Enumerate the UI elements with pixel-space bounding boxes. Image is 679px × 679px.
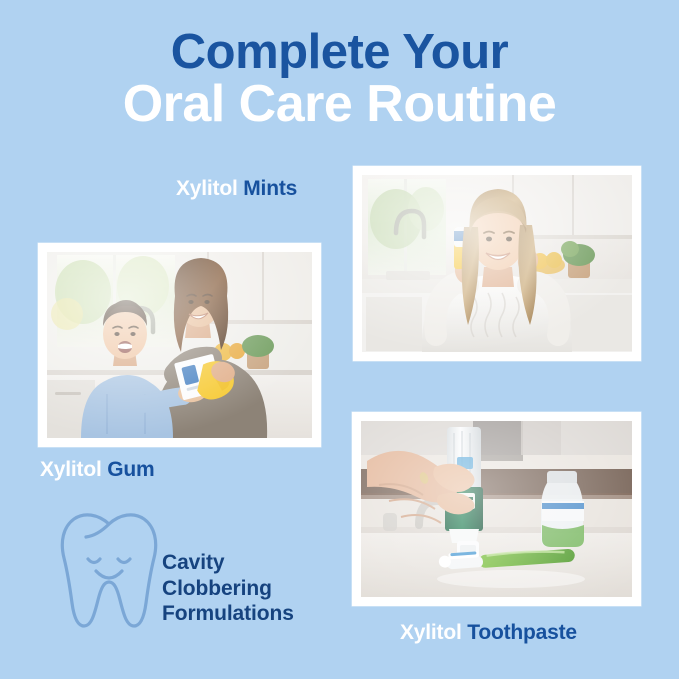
xylitol-toothpaste-lifestyle-photo (361, 421, 632, 597)
smiling-tooth-icon (58, 508, 160, 630)
caption-gum-word1: Xylitol (40, 458, 102, 481)
xylitol-toothpaste-photo-frame (352, 412, 641, 606)
caption-toothpaste-word2: Toothpaste (467, 621, 577, 644)
headline-line-1: Complete Your (0, 28, 679, 76)
toothpaste-photo-artwork (361, 421, 632, 597)
mints-photo-artwork (362, 175, 632, 352)
cavity-clobbering-badge: Cavity Clobbering Formulations (58, 508, 338, 633)
gum-photo-artwork (47, 252, 312, 438)
caption-toothpaste-word1: Xylitol (400, 621, 462, 644)
xylitol-gum-photo-frame (38, 243, 321, 447)
page-title: Complete Your Oral Care Routine (0, 28, 679, 130)
xylitol-mints-photo-frame (353, 166, 641, 361)
caption-mints-word2: Mints (243, 177, 297, 200)
poster-canvas: Complete Your Oral Care Routine (0, 0, 679, 679)
headline-line-2: Oral Care Routine (0, 79, 679, 130)
badge-line-2: Clobbering (162, 576, 294, 602)
badge-line-3: Formulations (162, 601, 294, 627)
caption-xylitol-toothpaste: Xylitol Toothpaste (400, 621, 577, 645)
cavity-clobbering-text: Cavity Clobbering Formulations (162, 550, 294, 627)
xylitol-mints-lifestyle-photo (362, 175, 632, 352)
badge-line-1: Cavity (162, 550, 294, 576)
caption-xylitol-gum: Xylitol Gum (40, 458, 155, 482)
caption-mints-word1: Xylitol (176, 177, 238, 200)
caption-gum-word2: Gum (107, 458, 154, 481)
xylitol-gum-lifestyle-photo (47, 252, 312, 438)
caption-xylitol-mints: Xylitol Mints (176, 177, 297, 201)
